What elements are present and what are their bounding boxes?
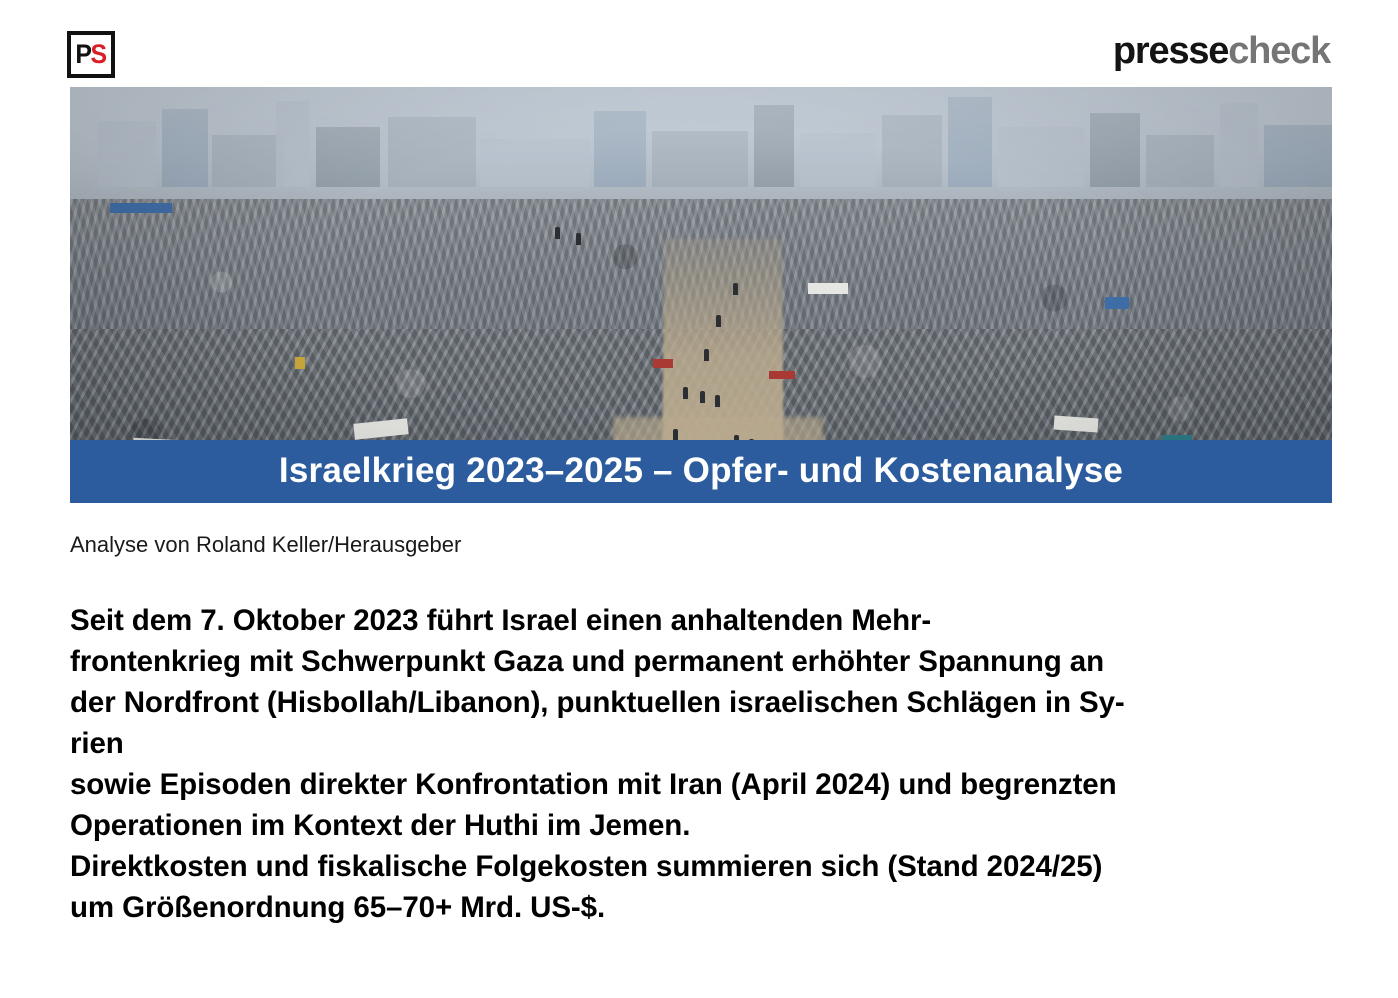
- body-line: rien: [70, 723, 1340, 764]
- hero-title-banner-foot: [70, 495, 1332, 503]
- byline: Analyse von Roland Keller/Herausgeber: [70, 532, 461, 558]
- skyline-block: [212, 135, 284, 187]
- photo-figure: [700, 391, 705, 403]
- photo-debris: [653, 359, 673, 368]
- pressecheck-wordmark: pressecheck: [1113, 32, 1330, 70]
- photo-figure: [715, 395, 720, 407]
- photo-figure: [576, 233, 581, 245]
- body-line: Operationen im Kontext der Huthi im Jeme…: [70, 805, 1340, 846]
- body-line: frontenkrieg mit Schwerpunkt Gaza und pe…: [70, 641, 1340, 682]
- skyline-block: [948, 97, 992, 187]
- photo-tarp: [110, 203, 172, 213]
- body-line: der Nordfront (Hisbollah/Libanon), punkt…: [70, 682, 1340, 723]
- body-line: um Größenordnung 65–70+ Mrd. US-$.: [70, 887, 1340, 928]
- body-line: Seit dem 7. Oktober 2023 führt Israel ei…: [70, 600, 1340, 641]
- skyline-block: [998, 127, 1084, 187]
- skyline-block: [1090, 113, 1140, 187]
- hero-title-banner: Israelkrieg 2023–2025 – Opfer- und Koste…: [70, 440, 1332, 502]
- skyline-block: [652, 131, 748, 187]
- skyline-block: [480, 139, 590, 187]
- ps-logo-text: PS: [76, 41, 106, 68]
- photo-figure: [555, 227, 560, 239]
- hero-title: Israelkrieg 2023–2025 – Opfer- und Koste…: [279, 453, 1123, 488]
- photo-tarp: [808, 283, 848, 294]
- photo-figure: [733, 283, 738, 295]
- skyline-block: [882, 115, 942, 187]
- photo-figure: [704, 349, 709, 361]
- skyline-block: [800, 133, 876, 187]
- skyline-block: [754, 105, 794, 187]
- article-body: Seit dem 7. Oktober 2023 führt Israel ei…: [70, 600, 1340, 928]
- wordmark-presse: presse: [1113, 30, 1228, 72]
- skyline-block: [316, 127, 380, 187]
- skyline-block: [1264, 125, 1332, 187]
- skyline-block: [1146, 135, 1214, 187]
- body-line: Direktkosten und fiskalische Folgekosten…: [70, 846, 1340, 887]
- photo-tarp: [1105, 297, 1129, 309]
- document-page: PS pressecheck: [0, 0, 1398, 998]
- page-header: PS pressecheck: [0, 0, 1398, 87]
- photo-figure: [683, 387, 688, 399]
- ps-logo-letter-s: S: [91, 39, 106, 69]
- skyline-block: [98, 121, 156, 187]
- skyline-block: [276, 101, 310, 187]
- skyline-block: [594, 111, 646, 187]
- skyline-block: [1220, 103, 1258, 187]
- photo-debris: [769, 371, 795, 379]
- wordmark-check: check: [1228, 30, 1330, 72]
- ps-logo-letter-p: P: [76, 39, 91, 69]
- body-line: sowie Episoden direkter Konfrontation mi…: [70, 764, 1340, 805]
- photo-tarp: [1054, 415, 1099, 432]
- ps-logo: PS: [67, 31, 115, 78]
- photo-debris: [295, 357, 305, 369]
- photo-figure: [716, 315, 721, 327]
- skyline-block: [162, 109, 208, 187]
- skyline-block: [388, 117, 476, 187]
